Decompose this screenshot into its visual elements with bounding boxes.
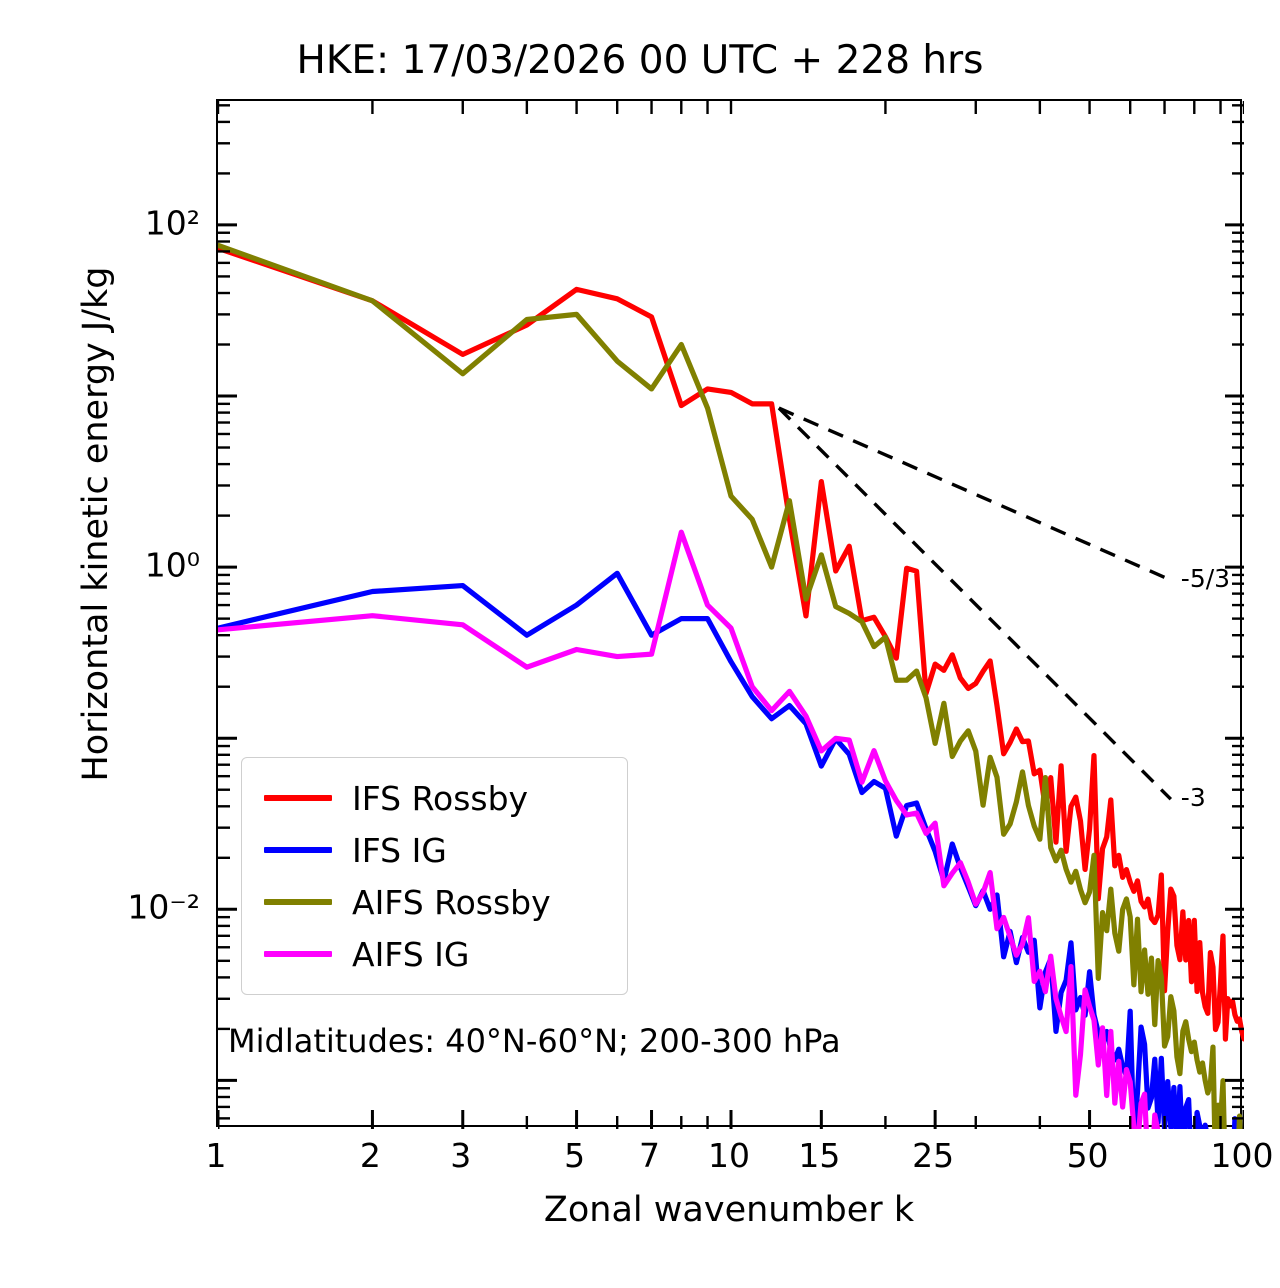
- legend-swatch-ifs-rossby: [264, 795, 332, 801]
- legend[interactable]: IFS RossbyIFS IGAIFS RossbyAIFS IG: [241, 757, 628, 995]
- x-tick-label-100: 100: [1211, 1136, 1274, 1175]
- legend-label: AIFS IG: [352, 938, 469, 971]
- region-annotation: Midlatitudes: 40°N-60°N; 200-300 hPa: [228, 1022, 841, 1060]
- chart-page: HKE: 17/03/2026 00 UTC + 228 hrs Horizon…: [0, 0, 1280, 1288]
- x-tick-label-10: 10: [708, 1136, 750, 1175]
- x-tick-label-25: 25: [912, 1136, 954, 1175]
- legend-label: IFS Rossby: [352, 782, 528, 815]
- y-tick-label-2: 10⁻²: [127, 888, 200, 927]
- x-tick-label-7: 7: [639, 1136, 660, 1175]
- legend-item-ifs-rossby[interactable]: IFS Rossby: [242, 772, 627, 824]
- x-tick-label-15: 15: [798, 1136, 840, 1175]
- slope-label--5-3: -5/3: [1181, 564, 1230, 593]
- y-axis-title: Horizontal kinetic energy J/kg: [76, 154, 116, 894]
- legend-label: AIFS Rossby: [352, 886, 551, 919]
- slope-line--5-3: [779, 408, 1171, 580]
- legend-swatch-ifs-ig: [264, 847, 332, 853]
- legend-item-aifs-ig[interactable]: AIFS IG: [242, 928, 627, 980]
- x-tick-label-1: 1: [206, 1136, 227, 1175]
- chart-title: HKE: 17/03/2026 00 UTC + 228 hrs: [0, 38, 1280, 83]
- y-tick-label-0: 10²: [145, 203, 200, 242]
- legend-swatch-aifs-ig: [264, 951, 332, 957]
- legend-label: IFS IG: [352, 834, 447, 867]
- legend-swatch-aifs-rossby: [264, 899, 332, 905]
- x-tick-label-2: 2: [360, 1136, 381, 1175]
- legend-item-ifs-ig[interactable]: IFS IG: [242, 824, 627, 876]
- legend-item-aifs-rossby[interactable]: AIFS Rossby: [242, 876, 627, 928]
- x-tick-label-3: 3: [450, 1136, 471, 1175]
- x-axis-title: Zonal wavenumber k: [216, 1190, 1242, 1230]
- y-tick-label-1: 10⁰: [145, 546, 200, 585]
- slope-label--3: -3: [1181, 783, 1206, 812]
- x-tick-label-50: 50: [1067, 1136, 1109, 1175]
- x-tick-label-5: 5: [564, 1136, 585, 1175]
